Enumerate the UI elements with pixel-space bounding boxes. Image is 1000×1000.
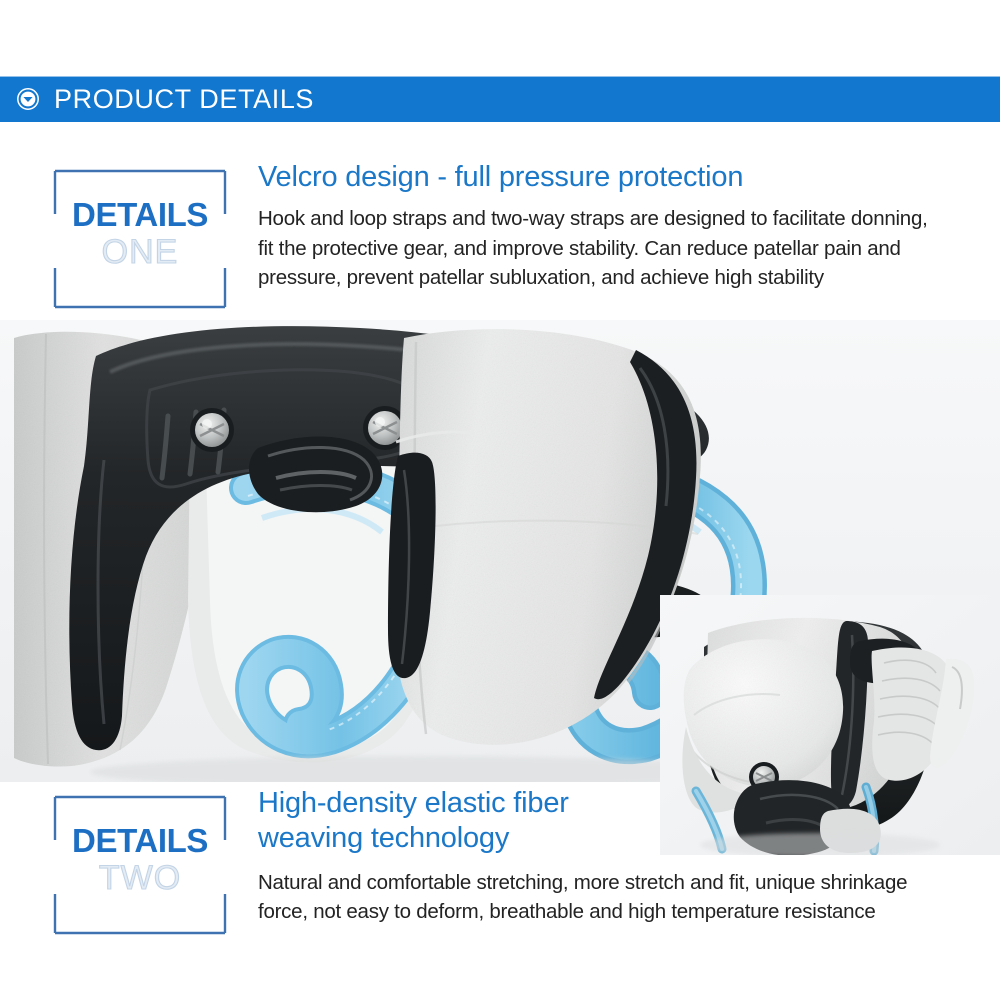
detail-one-heading: Velcro design - full pressure protection: [258, 160, 986, 195]
detail-block-one: DETAILS ONE Velcro design - full pressur…: [0, 160, 1000, 310]
product-details-page: PRODUCT DETAILS DETAILS ONE Velcro desig…: [0, 0, 1000, 1000]
badge-text-group: DETAILS TWO: [52, 824, 228, 895]
details-one-badge: DETAILS ONE: [52, 168, 228, 310]
chevron-down-circle-icon: [16, 87, 40, 111]
detail-two-body: Natural and comfortable stretching, more…: [258, 868, 986, 927]
product-details-banner: PRODUCT DETAILS: [0, 76, 1000, 122]
hinge-buckle: [249, 436, 382, 512]
detail-one-body: Hook and loop straps and two-way straps …: [258, 204, 986, 293]
banner-title: PRODUCT DETAILS: [54, 84, 314, 115]
screw-left: [190, 408, 234, 452]
badge-main-label: DETAILS: [52, 198, 228, 231]
detail-one-text: Velcro design - full pressure protection…: [228, 160, 1000, 310]
detail-two-text: High-density elastic fiber weaving techn…: [228, 786, 1000, 936]
detail-two-heading: High-density elastic fiber weaving techn…: [258, 786, 986, 857]
badge-main-label: DETAILS: [52, 824, 228, 857]
badge-sub-label: ONE: [52, 235, 228, 269]
detail-block-two: DETAILS TWO High-density elastic fiber w…: [0, 786, 1000, 936]
badge-text-group: DETAILS ONE: [52, 198, 228, 269]
details-two-badge: DETAILS TWO: [52, 794, 228, 936]
badge-sub-label: TWO: [52, 861, 228, 895]
